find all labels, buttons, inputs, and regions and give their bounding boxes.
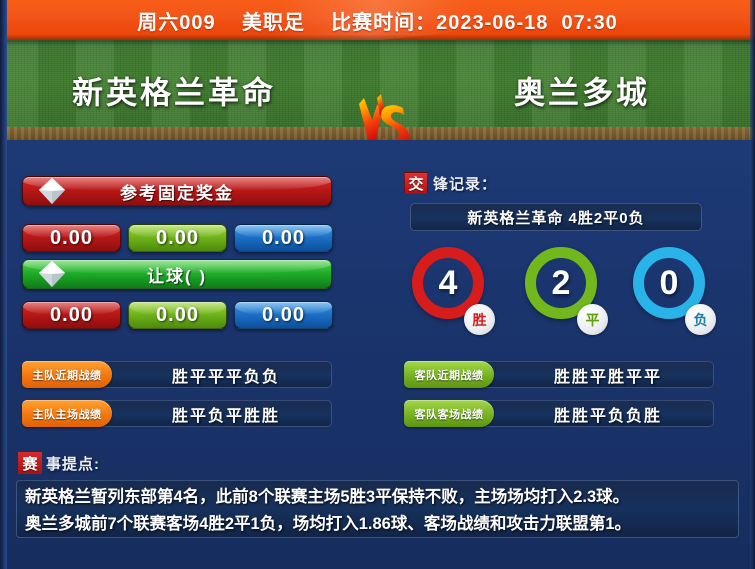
handicap-odds-away-value: 0.00: [262, 304, 305, 327]
fixed-odds-home-value: 0.00: [50, 227, 93, 250]
match-preview-card: 周六009 美职足 比赛时间：2023-06-18 07:30 新英格兰革命: [0, 0, 755, 569]
away-recent-record-tag: 客队近期战绩: [404, 361, 494, 388]
tips-line-1: 新英格兰暂列东部第4名，此前8个联赛主场5胜3平保持不败，主场场均打入2.3球。: [25, 484, 730, 511]
away-recent-record-value: 胜胜平胜平平: [482, 361, 714, 388]
home-recent-record-value: 胜平平平负负: [100, 361, 332, 388]
fixed-odds-title: 参考固定奖金: [120, 179, 234, 204]
team-banner: 新英格兰革命 奥兰多城: [0, 40, 755, 140]
diamond-icon: [37, 176, 67, 206]
ring-losses-label: 负: [685, 304, 716, 335]
handicap-odds-draw-button[interactable]: 0.00: [128, 301, 227, 329]
away-team-name: 奥兰多城: [514, 68, 650, 113]
home-home-record-row: 胜平负平胜胜 主队主场战绩: [22, 400, 332, 427]
match-header-bar: 周六009 美职足 比赛时间：2023-06-18 07:30: [0, 0, 755, 40]
ring-wins-label: 胜: [464, 304, 495, 335]
handicap-odds-away-button[interactable]: 0.00: [234, 301, 333, 329]
home-home-record-value: 胜平负平胜胜: [100, 400, 332, 427]
fixed-odds-draw-value: 0.00: [156, 227, 199, 250]
fixed-odds-away-button[interactable]: 0.00: [234, 224, 333, 252]
ring-draws-label: 平: [577, 304, 608, 335]
fixed-odds-away-value: 0.00: [262, 227, 305, 250]
home-home-record-tag: 主队主场战绩: [22, 400, 112, 427]
away-away-record-row: 胜胜平负负胜 客队客场战绩: [404, 400, 714, 427]
head-to-head-title: 锋记录：: [433, 173, 497, 194]
tips-body: 新英格兰暂列东部第4名，此前8个联赛主场5胜3平保持不败，主场场均打入2.3球。…: [16, 480, 739, 538]
tips-badge: 赛: [18, 452, 42, 474]
tips-line-2: 奥兰多城前7个联赛客场4胜2平1负，场均打入1.86球、客场战绩和攻击力联盟第1…: [25, 511, 730, 538]
ring-draws: 2 平: [520, 247, 606, 335]
fixed-odds-title-bar: 参考固定奖金: [22, 176, 332, 206]
head-to-head-header: 交 锋记录：: [404, 172, 497, 194]
handicap-odds-home-button[interactable]: 0.00: [22, 301, 121, 329]
away-recent-record-row: 胜胜平胜平平 客队近期战绩: [404, 361, 714, 388]
handicap-title-bar: 让球( ): [22, 259, 332, 289]
handicap-odds-draw-value: 0.00: [156, 304, 199, 327]
head-to-head-rings: 4 胜 2 平 0 负: [400, 247, 720, 337]
fixed-odds-home-button[interactable]: 0.00: [22, 224, 121, 252]
home-recent-record-tag: 主队近期战绩: [22, 361, 112, 388]
head-to-head-summary: 新英格兰革命 4胜2平0负: [410, 203, 702, 231]
handicap-title: 让球( ): [147, 262, 207, 287]
tips-title: 事提点:: [46, 453, 100, 474]
fixed-odds-draw-button[interactable]: 0.00: [128, 224, 227, 252]
ring-losses: 0 负: [628, 247, 714, 335]
vs-icon: [347, 92, 417, 140]
handicap-odds-home-value: 0.00: [50, 304, 93, 327]
match-header-text: 周六009 美职足 比赛时间：2023-06-18 07:30: [137, 6, 617, 35]
ring-wins: 4 胜: [407, 247, 493, 335]
head-to-head-badge: 交: [404, 172, 428, 194]
home-team-name: 新英格兰革命: [72, 68, 276, 113]
tips-header: 赛 事提点:: [18, 452, 100, 474]
home-recent-record-row: 胜平平平负负 主队近期战绩: [22, 361, 332, 388]
diamond-icon: [37, 259, 67, 289]
away-away-record-value: 胜胜平负负胜: [482, 400, 714, 427]
away-away-record-tag: 客队客场战绩: [404, 400, 494, 427]
banner-top-shadow: [0, 40, 755, 46]
